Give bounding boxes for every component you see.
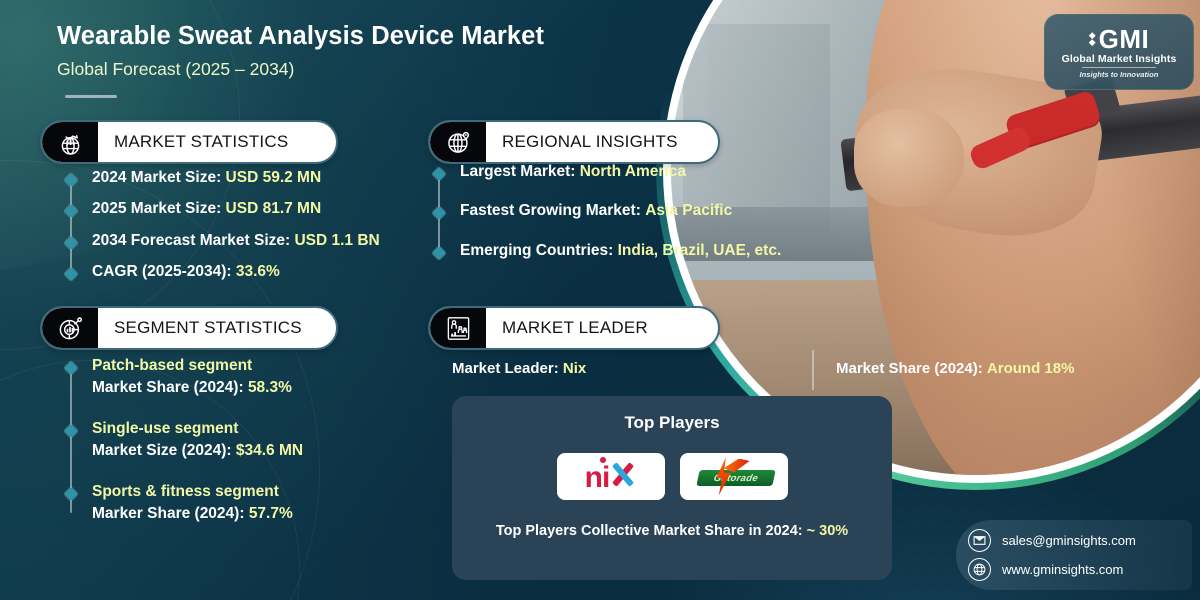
list-item: Fastest Growing Market: Asia Pacific xyxy=(438,201,838,220)
top-players-footer: Top Players Collective Market Share in 2… xyxy=(452,523,892,539)
nix-x-icon xyxy=(610,461,636,487)
list-item: Largest Market: North America xyxy=(438,162,838,181)
item-label: Emerging Countries: xyxy=(460,242,618,259)
gatorade-logo: Gatorade xyxy=(688,457,780,497)
section-label: MARKET LEADER xyxy=(486,318,670,338)
item-value: North America xyxy=(580,163,686,180)
item-value: 33.6% xyxy=(236,263,280,280)
section-header-regional-insights: REGIONAL INSIGHTS xyxy=(428,120,720,164)
list-item: CAGR (2025-2034): 33.6% xyxy=(70,262,400,281)
nix-logo: ni xyxy=(585,461,637,493)
item-label: Marker Share (2024): xyxy=(92,505,249,522)
market-statistics-list: 2024 Market Size: USD 59.2 MN 2025 Marke… xyxy=(70,168,400,282)
item-label: CAGR (2025-2034): xyxy=(92,263,236,280)
nix-logo-text: ni xyxy=(585,463,610,493)
segment-name: Patch-based segment xyxy=(92,356,292,375)
gmi-logo-tagline: Insights to Innovation xyxy=(1080,70,1159,79)
section-header-market-leader: MARKET LEADER xyxy=(428,306,720,350)
envelope-icon xyxy=(968,529,991,552)
gmi-logo-rule xyxy=(1082,67,1156,68)
section-header-market-statistics: MARKET STATISTICS xyxy=(40,120,338,164)
list-item: Single-use segment Market Size (2024): $… xyxy=(70,419,400,461)
item-label: 2025 Market Size: xyxy=(92,200,226,217)
section-label: MARKET STATISTICS xyxy=(98,132,310,152)
segment-name: Single-use segment xyxy=(92,419,303,438)
item-label: 2024 Market Size: xyxy=(92,169,226,186)
collective-share-value: ~ 30% xyxy=(807,523,849,539)
section-label: REGIONAL INSIGHTS xyxy=(486,132,700,152)
list-spine xyxy=(70,178,72,272)
list-item: 2024 Market Size: USD 59.2 MN xyxy=(70,168,400,187)
item-value: USD 1.1 BN xyxy=(294,232,379,249)
logo-tile-gatorade[interactable]: Gatorade xyxy=(680,453,788,500)
regional-insights-list: Largest Market: North America Fastest Gr… xyxy=(438,162,838,260)
collective-share-label: Top Players Collective Market Share in 2… xyxy=(496,523,807,539)
market-share-value: Around 18% xyxy=(987,360,1075,377)
market-share-row: Market Share (2024): Around 18% xyxy=(836,360,1074,377)
market-leader-row: Market Leader: Nix xyxy=(452,360,586,377)
item-value: USD 59.2 MN xyxy=(226,169,322,186)
list-item: 2025 Market Size: USD 81.7 MN xyxy=(70,199,400,218)
gmi-logo: ◆◆ GMI Global Market Insights Insights t… xyxy=(1044,14,1194,90)
contact-block: sales@gminsights.com www.gminsights.com xyxy=(956,520,1192,590)
gmi-logo-name: GMI xyxy=(1099,26,1150,52)
gatorade-logo-text: Gatorade xyxy=(696,470,775,486)
globe-icon xyxy=(968,558,991,581)
contact-website-row[interactable]: www.gminsights.com xyxy=(968,558,1180,581)
item-value: India, Brazil, UAE, etc. xyxy=(618,242,782,259)
item-value: USD 81.7 MN xyxy=(226,200,322,217)
top-players-title: Top Players xyxy=(452,413,892,433)
logo-tile-nix[interactable]: ni xyxy=(557,453,665,500)
vertical-divider xyxy=(812,350,814,390)
market-leader-label: Market Leader: xyxy=(452,360,563,377)
segment-statistics-list: Patch-based segment Market Share (2024):… xyxy=(70,356,400,523)
list-item: Emerging Countries: India, Brazil, UAE, … xyxy=(438,241,838,260)
item-value: $34.6 MN xyxy=(236,442,303,459)
gmi-diamond-icon: ◆◆ xyxy=(1089,32,1096,45)
page-title: Wearable Sweat Analysis Device Market xyxy=(57,22,544,51)
globe-chart-icon xyxy=(42,122,98,162)
section-header-segment-statistics: SEGMENT STATISTICS xyxy=(40,306,338,350)
item-value: 57.7% xyxy=(249,505,293,522)
list-item: Sports & fitness segment Marker Share (2… xyxy=(70,482,400,524)
globe-pin-icon xyxy=(430,122,486,162)
contact-email-row[interactable]: sales@gminsights.com xyxy=(968,529,1180,552)
item-label: Fastest Growing Market: xyxy=(460,202,645,219)
list-item: Patch-based segment Market Share (2024):… xyxy=(70,356,400,398)
item-label: Market Share (2024): xyxy=(92,379,248,396)
item-value: Asia Pacific xyxy=(645,202,732,219)
item-value: 58.3% xyxy=(248,379,292,396)
gmi-logo-fullname: Global Market Insights xyxy=(1062,53,1177,65)
top-players-logo-row: ni Gatorade xyxy=(452,453,892,500)
top-players-card: Top Players ni Gatorade Top Players Coll… xyxy=(452,396,892,580)
nix-dot-icon xyxy=(600,457,606,463)
section-label: SEGMENT STATISTICS xyxy=(98,318,324,338)
title-underline xyxy=(65,95,117,98)
item-label: 2034 Forecast Market Size: xyxy=(92,232,294,249)
segment-name: Sports & fitness segment xyxy=(92,482,293,501)
infographic-canvas: ◆◆ GMI Global Market Insights Insights t… xyxy=(0,0,1200,600)
item-label: Largest Market: xyxy=(460,163,580,180)
contact-website: www.gminsights.com xyxy=(1002,562,1123,577)
list-item: 2034 Forecast Market Size: USD 1.1 BN xyxy=(70,231,400,250)
market-leader-value: Nix xyxy=(563,360,586,377)
item-label: Market Size (2024): xyxy=(92,442,236,459)
page-subtitle: Global Forecast (2025 – 2034) xyxy=(57,59,294,80)
market-share-label: Market Share (2024): xyxy=(836,360,987,377)
podium-leader-icon xyxy=(430,308,486,348)
contact-email: sales@gminsights.com xyxy=(1002,533,1136,548)
pie-chart-icon xyxy=(42,308,98,348)
